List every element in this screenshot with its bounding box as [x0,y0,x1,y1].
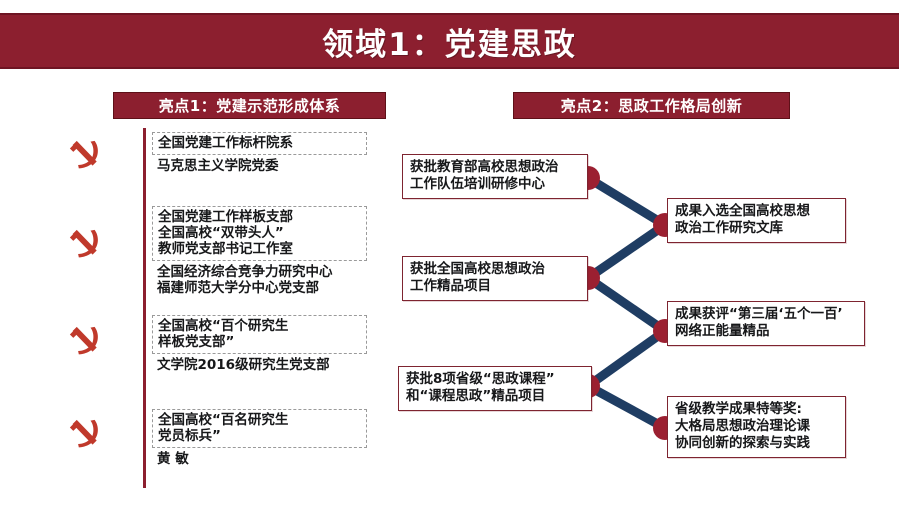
honor-line: 党员标兵” [158,428,361,444]
honor-line: 全国高校“双带头人” [158,225,361,241]
honor-line: 全国党建工作标杆院系 [158,135,361,151]
honor-title-box: 全国党建工作标杆院系 [152,132,367,155]
list-item: 全国党建工作标杆院系 马克思主义学院党委 [152,132,367,174]
honor-title-box: 全国高校“百名研究生 党员标兵” [152,409,367,448]
detail-line: 福建师范大学分中心党支部 [157,280,362,296]
honor-title-box: 全国党建工作样板支部 全国高校“双带头人” 教师党支部书记工作室 [152,206,367,261]
box-line: 获批8项省级“思政课程” [406,371,584,388]
detail-line: 文学院2016级研究生党支部 [157,357,362,373]
vertical-divider [143,128,146,488]
box-line: 工作精品项目 [410,278,580,295]
honor-title-box: 全国高校“百个研究生 样板党支部” [152,315,367,354]
box-line: 获批教育部高校思想政治 [410,159,580,176]
achievement-box: 获批全国高校思想政治 工作精品项目 [402,256,588,301]
slide-root: 领域1：党建思政 亮点1：党建示范形成体系 亮点2：思政工作格局创新 [0,0,899,505]
connector-edge [588,178,665,225]
achievement-box: 省级教学成果特等奖: 大格局思想政治理论课 协同创新的探索与实践 [667,396,846,458]
box-line: 协同创新的探索与实践 [675,435,838,452]
page-title: 领域1：党建思政 [322,19,577,64]
section-header-left: 亮点1：党建示范形成体系 [113,92,386,119]
achievement-box: 获批8项省级“思政课程” 和“课程思政”精品项目 [398,366,592,411]
cpc-emblem-icon [63,413,107,457]
connector-edge [588,278,665,331]
connector-edge [588,331,665,386]
cpc-emblem-icon [63,134,107,178]
honor-line: 教师党支部书记工作室 [158,241,361,257]
connector-edge [588,225,665,278]
box-line: 和“课程思政”精品项目 [406,388,584,405]
box-line: 政治工作研究文库 [675,220,838,237]
cpc-emblem-icon [63,223,107,267]
box-line: 成果获评“第三届‘五个一百’ [675,306,857,323]
detail-line: 全国经济综合竞争力研究中心 [157,264,362,280]
detail-line: 黄 敏 [157,451,362,467]
section-header-right: 亮点2：思政工作格局创新 [513,92,790,119]
box-line: 大格局思想政治理论课 [675,418,838,435]
detail-line: 马克思主义学院党委 [157,158,362,174]
honor-line: 全国高校“百名研究生 [158,412,361,428]
honor-line: 全国党建工作样板支部 [158,209,361,225]
honor-line: 样板党支部” [158,334,361,350]
left-column: 全国党建工作标杆院系 马克思主义学院党委 全国党建工作样板支部 全国高校“双带头… [55,128,375,493]
box-line: 获批全国高校思想政治 [410,261,580,278]
list-item: 全国高校“百个研究生 样板党支部” 文学院2016级研究生党支部 [152,315,367,373]
achievement-box: 获批教育部高校思想政治 工作队伍培训研修中心 [402,154,588,199]
right-column: 获批教育部高校思想政治 工作队伍培训研修中心 获批全国高校思想政治 工作精品项目… [390,128,890,493]
box-line: 成果入选全国高校思想 [675,203,838,220]
box-line: 网络正能量精品 [675,323,857,340]
achievement-box: 成果入选全国高校思想 政治工作研究文库 [667,198,846,243]
list-item: 全国党建工作样板支部 全国高校“双带头人” 教师党支部书记工作室 全国经济综合竞… [152,206,367,296]
box-line: 省级教学成果特等奖: [675,401,838,418]
honor-detail: 马克思主义学院党委 [152,155,367,174]
cpc-emblem-icon [63,320,107,364]
connector-edge [588,386,665,428]
list-item: 全国高校“百名研究生 党员标兵” 黄 敏 [152,409,367,467]
honor-line: 全国高校“百个研究生 [158,318,361,334]
box-line: 工作队伍培训研修中心 [410,176,580,193]
honor-detail: 黄 敏 [152,448,367,467]
slide-title-banner: 领域1：党建思政 [0,13,899,69]
section-header-left-label: 亮点1：党建示范形成体系 [159,95,340,116]
honor-detail: 文学院2016级研究生党支部 [152,354,367,373]
section-header-right-label: 亮点2：思政工作格局创新 [561,95,742,116]
honor-detail: 全国经济综合竞争力研究中心 福建师范大学分中心党支部 [152,261,367,296]
achievement-box: 成果获评“第三届‘五个一百’ 网络正能量精品 [667,301,865,346]
